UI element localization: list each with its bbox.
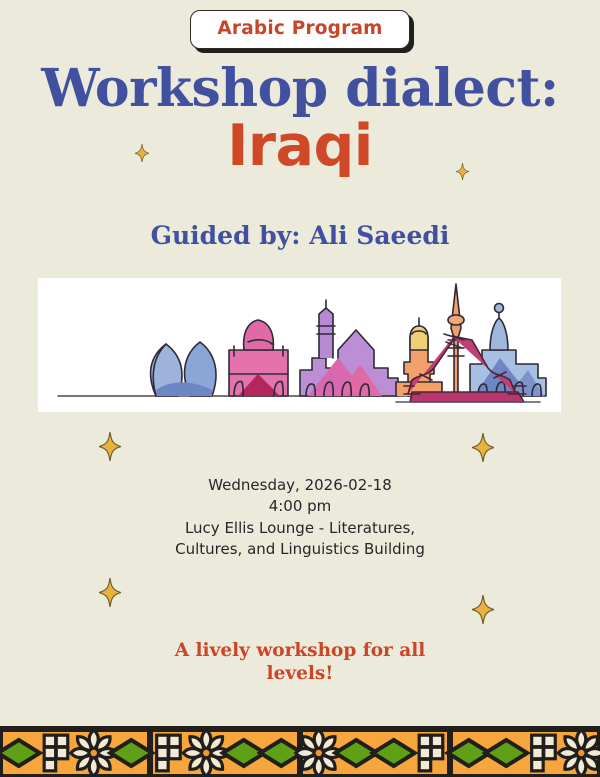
tagline: A lively workshop for all levels! <box>0 640 600 685</box>
tagline-line2: levels! <box>0 663 600 686</box>
geometric-tile-border <box>0 729 600 777</box>
ornament-band <box>0 726 600 777</box>
ornament-stepped-cross <box>44 735 68 771</box>
ornament-diamond <box>485 740 527 766</box>
event-details: Wednesday, 2026-02-18 4:00 pm Lucy Ellis… <box>0 475 600 560</box>
presenter-line: Guided by: Ali Saeedi <box>0 222 600 250</box>
event-time: 4:00 pm <box>0 496 600 517</box>
ornament-stepped-cross <box>157 735 181 771</box>
event-location-line2: Cultures, and Linguistics Building <box>0 539 600 560</box>
sparkle-diamond-icon <box>135 144 149 162</box>
sparkle-diamond-icon <box>472 595 494 624</box>
event-flyer: Arabic Program Workshop dialect: Iraqi G… <box>0 0 600 777</box>
ornament-diamond <box>110 740 152 766</box>
page-title-line1: Workshop dialect: <box>0 63 600 115</box>
program-badge: Arabic Program <box>190 10 409 49</box>
ornament-diamond <box>373 740 415 766</box>
event-location-line1: Lucy Ellis Lounge - Literatures, <box>0 518 600 539</box>
program-badge-container: Arabic Program <box>0 10 600 49</box>
ornament-rosette <box>558 730 600 776</box>
sparkle-diamond-icon <box>99 432 121 461</box>
sparkle-diamond-icon <box>99 578 121 607</box>
tagline-line1: A lively workshop for all <box>175 640 426 661</box>
event-date: Wednesday, 2026-02-18 <box>0 475 600 496</box>
victory-arch-illustration <box>390 318 550 413</box>
ornament-stepped-cross <box>532 735 556 771</box>
ornament-diamond <box>0 740 40 766</box>
sparkle-diamond-icon <box>456 163 469 180</box>
ornament-stepped-cross <box>419 735 443 771</box>
sparkle-diamond-icon <box>472 433 494 462</box>
page-title-line2: Iraqi <box>0 118 600 175</box>
